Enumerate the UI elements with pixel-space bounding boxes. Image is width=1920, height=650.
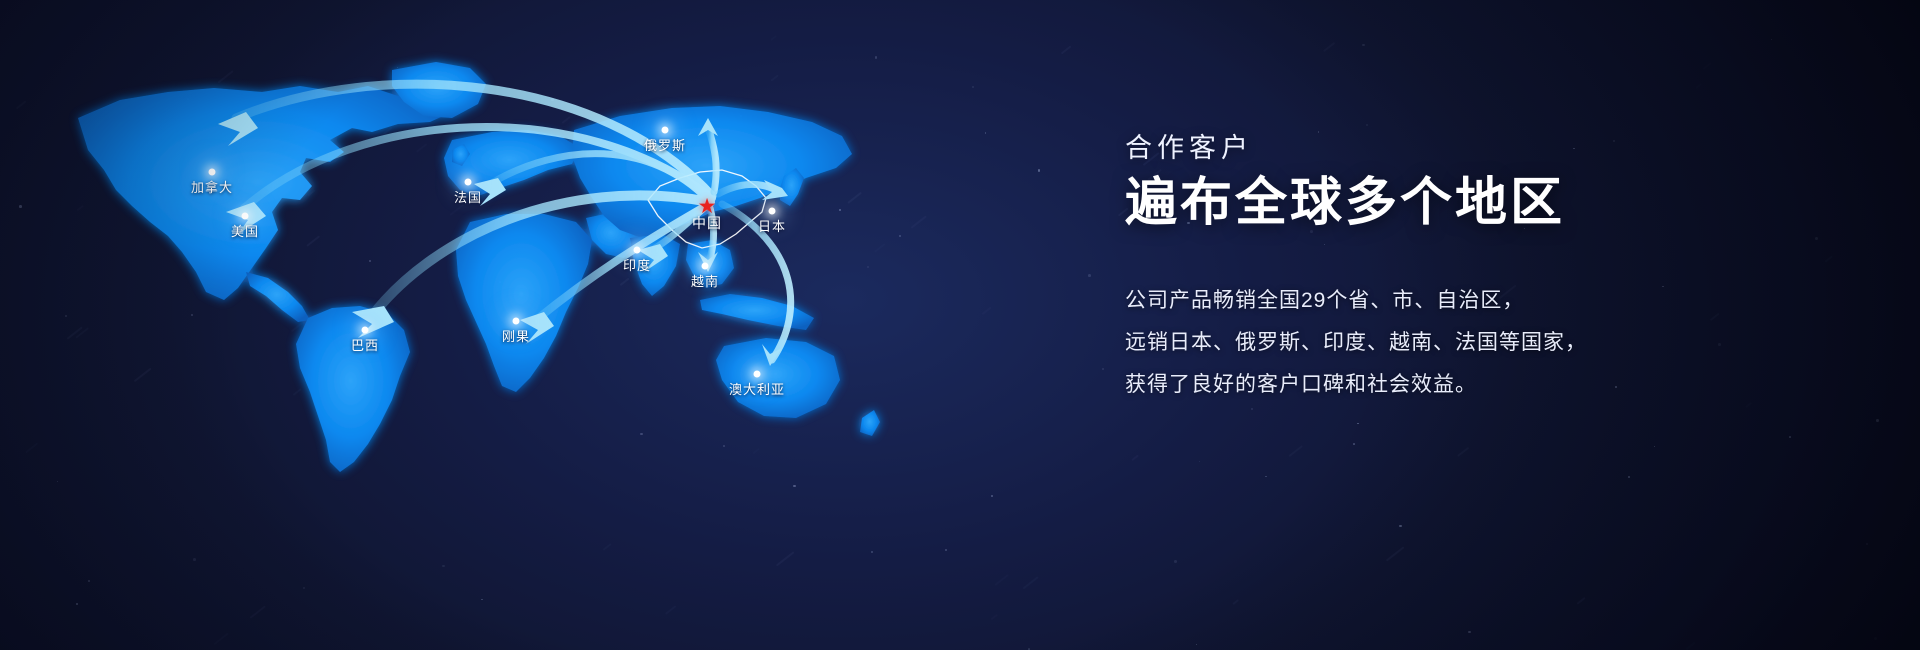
star-streak bbox=[1825, 255, 1833, 262]
world-map-svg bbox=[0, 0, 1010, 650]
star-dot bbox=[1654, 446, 1655, 447]
star-streak bbox=[1131, 455, 1138, 461]
star-dot bbox=[1866, 543, 1868, 545]
star-streak bbox=[1695, 83, 1702, 89]
star-streak bbox=[1023, 576, 1039, 589]
map-marker-label: 俄罗斯 bbox=[644, 139, 686, 152]
star-dot bbox=[1771, 39, 1772, 40]
description-line: 远销日本、俄罗斯、印度、越南、法国等国家， bbox=[1125, 322, 1825, 364]
landmass-central-america bbox=[246, 272, 310, 322]
star-streak bbox=[1061, 45, 1071, 54]
description-line: 获得了良好的客户口碑和社会效益。 bbox=[1125, 364, 1825, 406]
white-dot-icon bbox=[769, 208, 776, 215]
star-dot bbox=[1088, 274, 1091, 277]
star-dot bbox=[1362, 44, 1364, 46]
star-streak bbox=[1686, 642, 1696, 650]
star-dot bbox=[1196, 644, 1197, 645]
star-streak bbox=[1577, 597, 1585, 604]
star-dot bbox=[1399, 525, 1402, 528]
hero-text-panel: 合作客户 遍布全球多个地区 公司产品畅销全国29个省、市、自治区，远销日本、俄罗… bbox=[1125, 132, 1825, 406]
star-dot bbox=[1102, 368, 1104, 370]
map-marker-label: 印度 bbox=[623, 259, 651, 272]
landmass-indonesia bbox=[700, 294, 814, 330]
star-dot bbox=[1038, 169, 1041, 172]
white-dot-icon bbox=[242, 213, 249, 220]
landmass-new-zealand bbox=[860, 410, 880, 436]
star-dot bbox=[1174, 560, 1177, 563]
star-dot bbox=[1265, 476, 1267, 478]
star-streak bbox=[1289, 445, 1304, 457]
white-dot-icon bbox=[209, 169, 216, 176]
star-dot bbox=[1628, 476, 1630, 478]
star-dot bbox=[1874, 637, 1877, 640]
star-dot bbox=[1789, 436, 1791, 438]
white-dot-icon bbox=[465, 179, 472, 186]
description-block: 公司产品畅销全国29个省、市、自治区，远销日本、俄罗斯、印度、越南、法国等国家，… bbox=[1125, 280, 1825, 406]
star-dot bbox=[1876, 419, 1879, 422]
map-marker-label: 法国 bbox=[454, 191, 482, 204]
world-map: 加拿大美国巴西法国俄罗斯刚果印度★中国日本越南澳大利亚 bbox=[0, 0, 1010, 650]
white-dot-icon bbox=[662, 127, 669, 134]
white-dot-icon bbox=[513, 318, 520, 325]
star-streak bbox=[1386, 547, 1404, 562]
star-streak bbox=[1232, 599, 1239, 605]
star-dot bbox=[1366, 124, 1368, 126]
star-streak bbox=[1457, 447, 1469, 457]
map-marker-label: 加拿大 bbox=[191, 181, 233, 194]
star-streak bbox=[1323, 42, 1335, 52]
white-dot-icon bbox=[362, 327, 369, 334]
star-streak bbox=[1703, 62, 1712, 69]
map-marker-label: 巴西 bbox=[351, 339, 379, 352]
landmass-africa bbox=[456, 214, 592, 392]
hero-banner: 加拿大美国巴西法国俄罗斯刚果印度★中国日本越南澳大利亚 合作客户 遍布全球多个地… bbox=[0, 0, 1920, 650]
star-dot bbox=[1353, 443, 1355, 445]
white-dot-icon bbox=[634, 247, 641, 254]
map-marker-label: 越南 bbox=[691, 275, 719, 288]
map-marker-label: 中国 bbox=[692, 216, 722, 230]
map-marker-label: 美国 bbox=[231, 225, 259, 238]
star-dot bbox=[1468, 631, 1470, 633]
description-line: 公司产品畅销全国29个省、市、自治区， bbox=[1125, 280, 1825, 322]
map-marker-label: 澳大利亚 bbox=[729, 383, 785, 396]
star-dot bbox=[1357, 423, 1358, 424]
map-marker-label: 刚果 bbox=[502, 330, 530, 343]
white-dot-icon bbox=[702, 263, 709, 270]
map-marker-label: 日本 bbox=[758, 220, 786, 233]
landmass-europe bbox=[444, 130, 580, 196]
landmass-south-america bbox=[296, 306, 410, 472]
white-dot-icon bbox=[754, 371, 761, 378]
page-title: 遍布全球多个地区 bbox=[1125, 174, 1825, 234]
star-dot bbox=[1199, 461, 1200, 462]
red-star-icon: ★ bbox=[698, 196, 717, 217]
star-dot bbox=[1251, 408, 1252, 409]
eyebrow-title: 合作客户 bbox=[1125, 132, 1825, 164]
